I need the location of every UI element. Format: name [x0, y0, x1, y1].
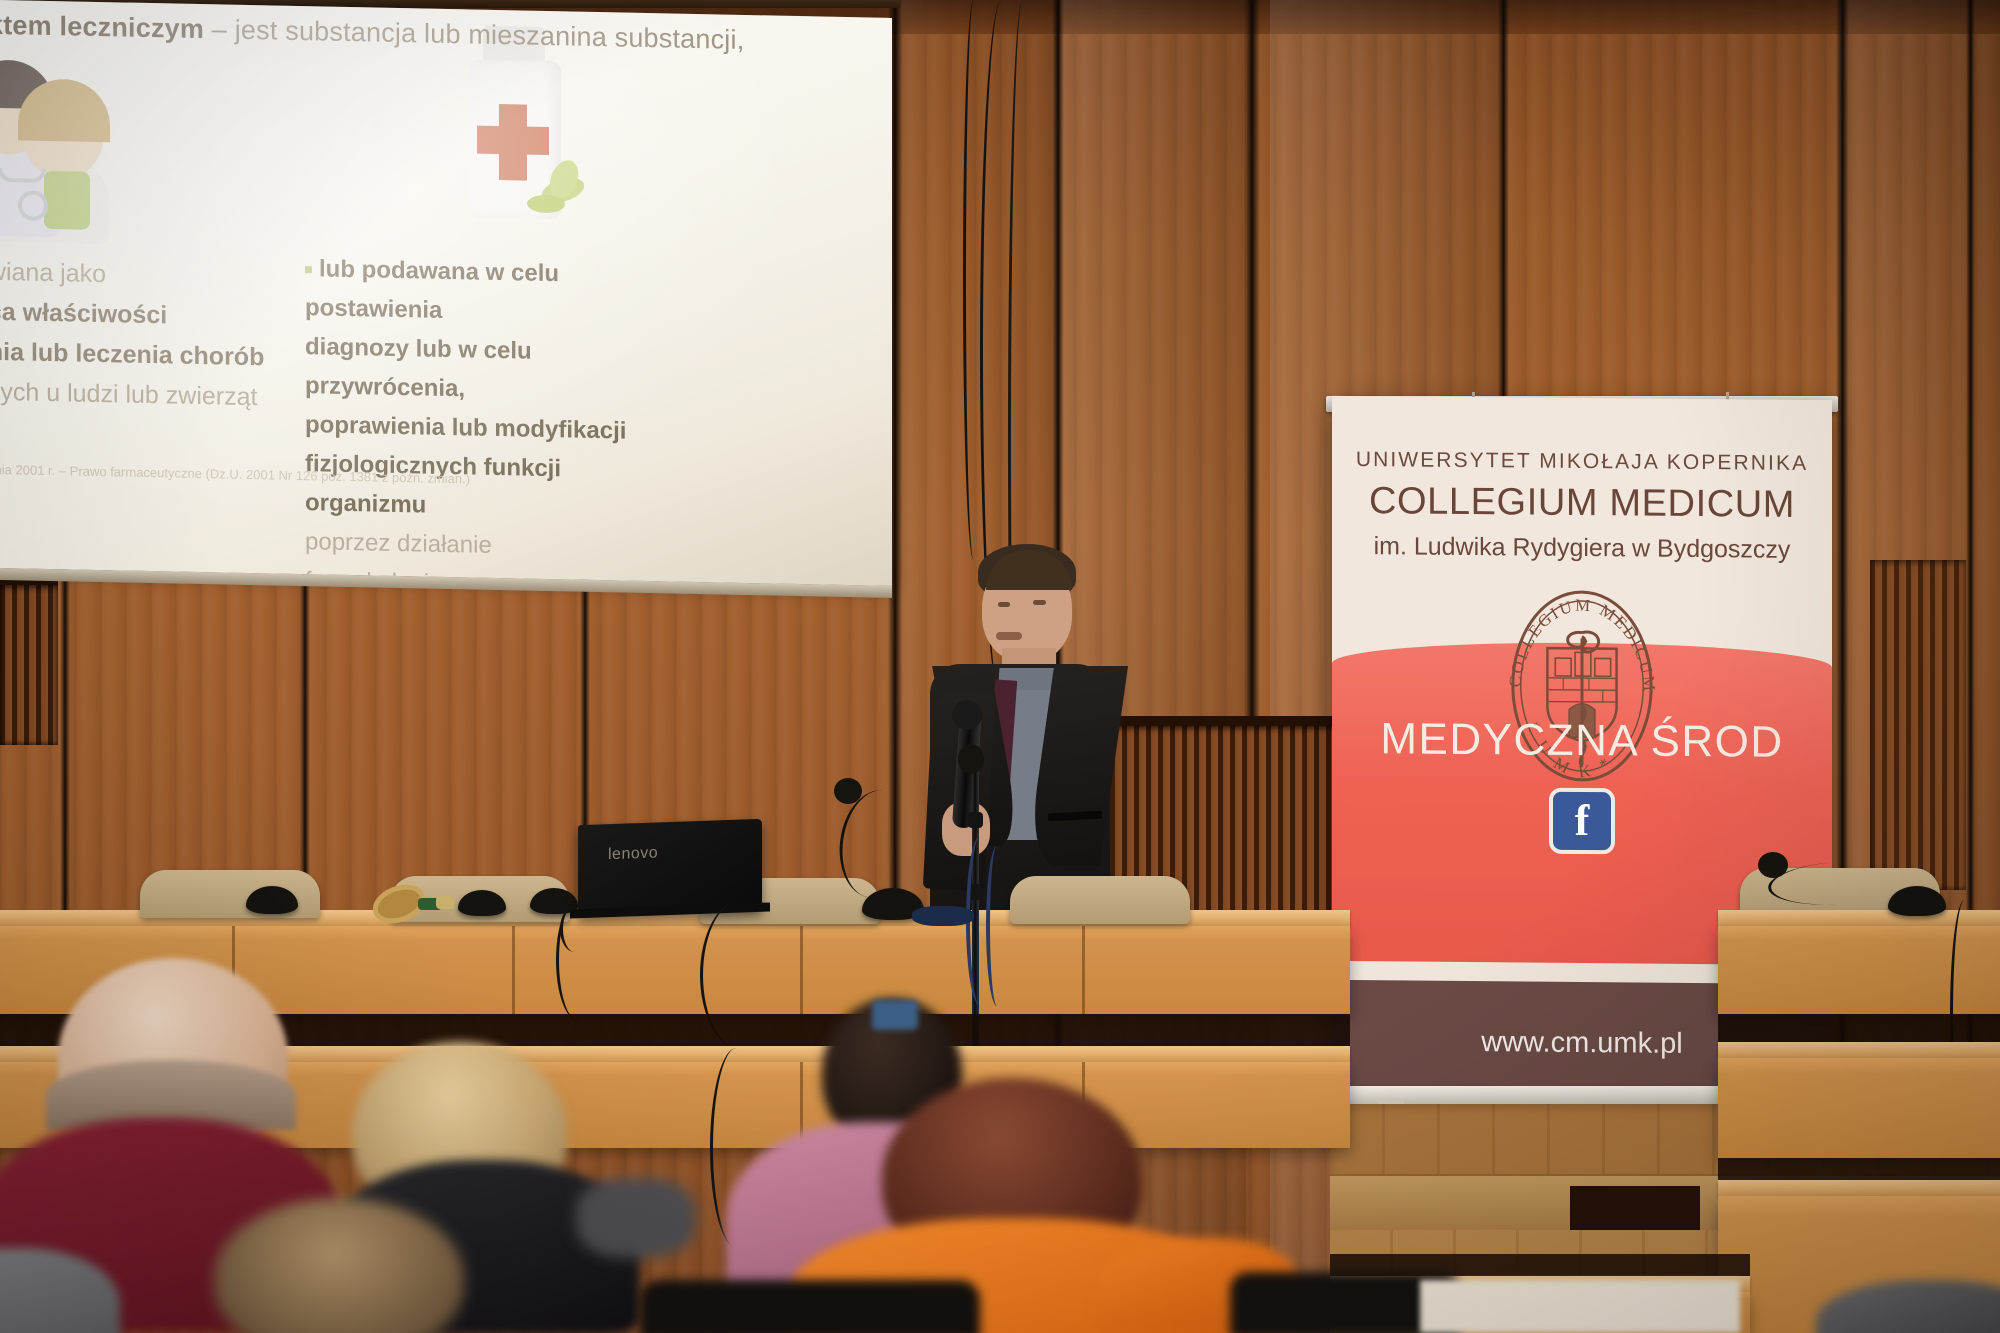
microphone-cable-coil	[912, 906, 974, 926]
slide-left-line: ąca właściwości	[0, 291, 274, 337]
speaker-eye	[998, 602, 1010, 607]
facebook-icon: f	[1549, 788, 1615, 855]
hair-clip	[872, 1000, 918, 1030]
banner-collegium-line: COLLEGIUM MEDICUM	[1332, 480, 1832, 527]
boom-microphone-capsule	[958, 744, 984, 774]
slide-right-column: lub podawana w celu postawienia diagnozy…	[305, 249, 645, 586]
banner-university-line: UNIWERSYTET MIKOŁAJA KOPERNIKA	[1332, 448, 1832, 476]
slide-left-line: awiana jako	[0, 251, 274, 297]
chair-back	[1010, 876, 1190, 924]
seat-back	[640, 1280, 980, 1333]
handheld-microphone-capsule	[952, 700, 982, 730]
wall-seam	[1498, 0, 1509, 420]
microphone-stand-clamp	[968, 812, 983, 828]
radiator-grille	[0, 585, 58, 745]
table-underside-shadow	[1718, 1014, 2000, 1044]
hanging-cable	[963, 0, 984, 560]
banner-event-title: MEDYCZNA ŚROD	[1332, 714, 1832, 768]
laptop-cable	[560, 906, 589, 952]
banner-patron-line: im. Ludwika Rydygiera w Bydgoszczy	[1332, 532, 1832, 565]
slide-heading-rest: – jest substancja lub mieszanina substan…	[204, 14, 744, 55]
gooseneck-microphone-right-capsule	[1758, 852, 1788, 878]
table-underside-shadow	[1718, 1158, 2000, 1182]
desk-seam	[512, 926, 515, 1014]
gooseneck-microphone-center-capsule	[834, 778, 862, 804]
slide-right-line: diagnozy lub w celu przywrócenia,	[305, 327, 645, 412]
wall-seam	[60, 560, 70, 940]
slide-heading: ktem leczniczym – jest substancja lub mi…	[0, 10, 748, 56]
right-second-table-top	[1718, 1042, 2000, 1059]
right-third-table-top	[1718, 1180, 2000, 1197]
microphone-cable-blue	[986, 846, 1008, 1006]
slide-left-line: ania lub leczenia chorób	[0, 331, 274, 377]
small-object	[436, 896, 454, 909]
slide-left-column: awiana jako ąca właściwości ania lub lec…	[0, 251, 274, 417]
bullet-icon	[305, 266, 312, 273]
lecture-hall-photo: ktem leczniczym – jest substancja lub mi…	[0, 0, 2000, 1333]
speaker-mouth	[996, 632, 1022, 640]
green-pills-icon	[527, 195, 565, 214]
speaker-eye	[1033, 600, 1046, 605]
medicine-bottle-icon	[455, 25, 585, 243]
radiator-grille	[1870, 560, 1966, 890]
laptop-brand-label: lenovo	[608, 844, 658, 864]
right-second-table-front	[1718, 1058, 2000, 1158]
slide-right-line: lub podawana w celu postawienia	[305, 255, 559, 323]
slide-heading-bold: ktem leczniczym	[0, 10, 204, 44]
desk-seam	[800, 926, 803, 1014]
projection-screen: ktem leczniczym – jest substancja lub mi…	[0, 0, 892, 586]
desk-seam	[1082, 926, 1085, 1014]
slide-right-line: poprawienia lub modyfikacji	[305, 405, 645, 451]
audience-member-shoulder	[576, 1178, 696, 1258]
wall-seam	[1244, 0, 1260, 760]
slide-left-line: ących u ludzi lub zwierząt	[0, 371, 274, 417]
facebook-f-glyph: f	[1575, 799, 1590, 843]
paper-sheet	[1420, 1280, 1740, 1333]
doctors-icon	[0, 49, 170, 243]
